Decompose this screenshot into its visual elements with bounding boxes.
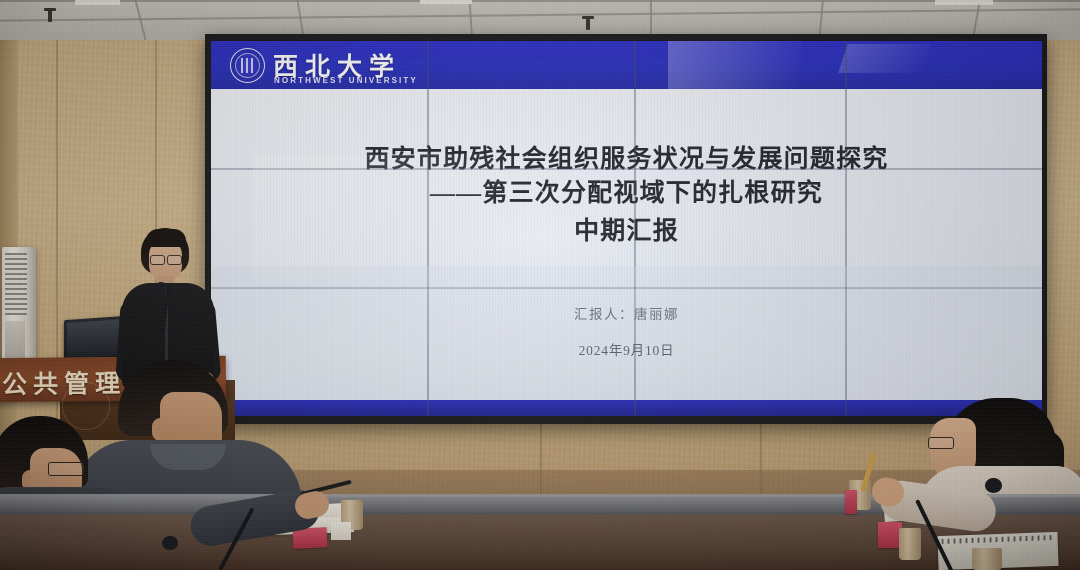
panel-seam-vertical (845, 41, 847, 416)
panel-seam-horizontal (211, 287, 1042, 289)
air-conditioner (2, 247, 36, 369)
paper-cup[interactable] (899, 528, 921, 560)
microphone-head-icon (162, 536, 178, 550)
panel-seam-horizontal (211, 168, 1042, 170)
name-card[interactable] (331, 522, 351, 540)
glasses-icon (48, 462, 84, 476)
glasses-icon (150, 255, 165, 265)
video-wall-screen[interactable]: 西北大学 NORTHWEST UNIVERSITY 西安市助残社会组织服务状况与… (211, 41, 1042, 416)
slide-title-line-1: 西安市助残社会组织服务状况与发展问题探究 (211, 144, 1042, 175)
slide-date: 2024年9月10日 (211, 339, 1042, 359)
slide-header-band: 西北大学 NORTHWEST UNIVERSITY (211, 41, 1042, 89)
university-name-en: NORTHWEST UNIVERSITY (274, 76, 418, 85)
slide-title-line-2: ——第三次分配视域下的扎根研究 (211, 175, 1042, 213)
slide-meta-block: 汇报人：唐丽娜 2024年9月10日 (211, 303, 1042, 359)
glasses-icon (167, 255, 182, 265)
microphone-head-icon (155, 282, 167, 293)
university-seal-icon (230, 48, 265, 83)
slide-title-line-3: 中期汇报 (211, 213, 1042, 252)
slide-title-block: 西安市助残社会组织服务状况与发展问题探究 ——第三次分配视域下的扎根研究 中期汇… (211, 144, 1042, 251)
ceiling-speaker-icon (48, 10, 52, 22)
slide-footer-band (211, 400, 1042, 416)
paper-cup[interactable] (972, 548, 1002, 570)
institution-emblem-icon (62, 382, 110, 430)
ceiling-speaker-icon (586, 18, 590, 30)
slide-presenter: 汇报人：唐丽娜 (211, 303, 1042, 323)
name-card[interactable] (845, 490, 857, 514)
panel-seam-vertical (427, 41, 429, 416)
glasses-icon (928, 437, 954, 449)
panel-seam-vertical (634, 41, 636, 416)
microphone-head-icon (985, 478, 1002, 493)
conference-room-photo: 西北大学 NORTHWEST UNIVERSITY 西安市助残社会组织服务状况与… (0, 0, 1080, 570)
presentation-slide: 西北大学 NORTHWEST UNIVERSITY 西安市助残社会组织服务状况与… (211, 41, 1042, 416)
